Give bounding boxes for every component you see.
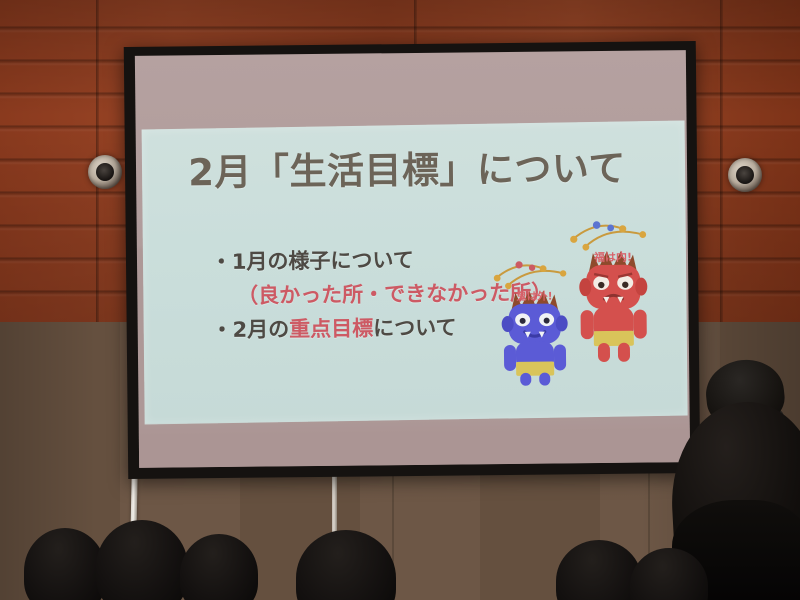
blue-oni-illustration: 鬼は外! xyxy=(491,253,578,386)
screen-surface: 2月「生活目標」について ・1月の様子について （良かった所・できなかった所） … xyxy=(135,50,690,468)
child-head xyxy=(630,548,708,600)
oni-illustration-group: 福は内! xyxy=(490,196,662,388)
bullet-item-3-suffix: について xyxy=(373,315,457,340)
photo-scene: 2月「生活目標」について ・1月の様子について （良かった所・できなかった所） … xyxy=(0,0,800,600)
wall-speaker-left-icon xyxy=(88,155,122,189)
blue-oni-caption: 鬼は外! xyxy=(516,289,552,302)
wall-speaker-right-icon xyxy=(728,158,762,192)
child-head xyxy=(180,534,258,600)
child-head xyxy=(96,520,188,600)
red-oni-illustration: 福は内! xyxy=(566,212,660,363)
slide-title: 2月「生活目標」について xyxy=(188,149,626,192)
projector-screen: 2月「生活目標」について ・1月の様子について （良かった所・できなかった所） … xyxy=(124,41,700,479)
wood-seam xyxy=(720,0,723,330)
bullet-item-3-highlight: 重点目標 xyxy=(289,316,373,341)
red-oni-caption: 福は内! xyxy=(593,249,632,263)
bullet-item-3-prefix: ・2月の xyxy=(211,317,289,342)
presentation-slide: 2月「生活目標」について ・1月の様子について （良かった所・できなかった所） … xyxy=(141,121,687,425)
child-head xyxy=(296,530,396,600)
child-head xyxy=(24,528,106,600)
bean-toss-arc-icon xyxy=(572,225,642,247)
